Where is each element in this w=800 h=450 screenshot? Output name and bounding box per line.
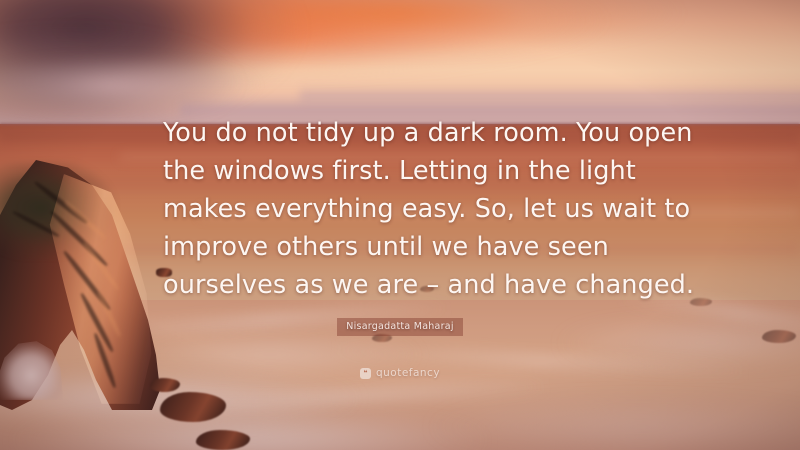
quotefancy-watermark: ❝ quotefancy <box>0 367 800 379</box>
quote-text-block: You do not tidy up a dark room. You open… <box>163 114 647 304</box>
quote-line-3: makes everything easy. So, let us wait t… <box>163 190 647 228</box>
quote-mark-glyph: ❝ <box>363 370 367 377</box>
quote-line-5: ourselves as we are – and have changed. <box>163 266 647 304</box>
quote-author: Nisargadatta Maharaj <box>337 318 462 336</box>
quote-line-4: improve others until we have seen <box>163 228 647 266</box>
quote-mark-icon: ❝ <box>360 368 371 379</box>
quote-line-2: the windows first. Letting in the light <box>163 152 647 190</box>
quote-line-1: You do not tidy up a dark room. You open <box>163 114 647 152</box>
quote-image-canvas: You do not tidy up a dark room. You open… <box>0 0 800 450</box>
watermark-brand-label: quotefancy <box>376 367 440 379</box>
attribution-row: Nisargadatta Maharaj <box>0 314 800 336</box>
